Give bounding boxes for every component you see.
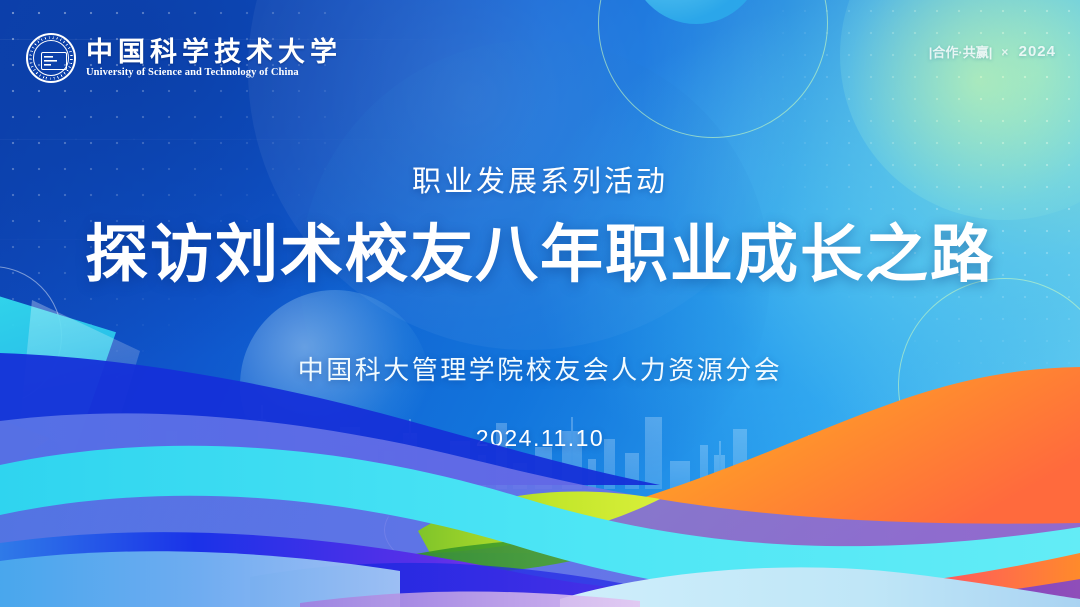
wave-graphics (0, 347, 1080, 607)
wave-svg (0, 347, 1080, 607)
event-series-label: 职业发展系列活动 (0, 158, 1080, 200)
event-poster: 中国科学技术大学 University of Science and Techn… (0, 0, 1080, 607)
poster-title: 探访刘术校友八年职业成长之路 (0, 222, 1080, 288)
